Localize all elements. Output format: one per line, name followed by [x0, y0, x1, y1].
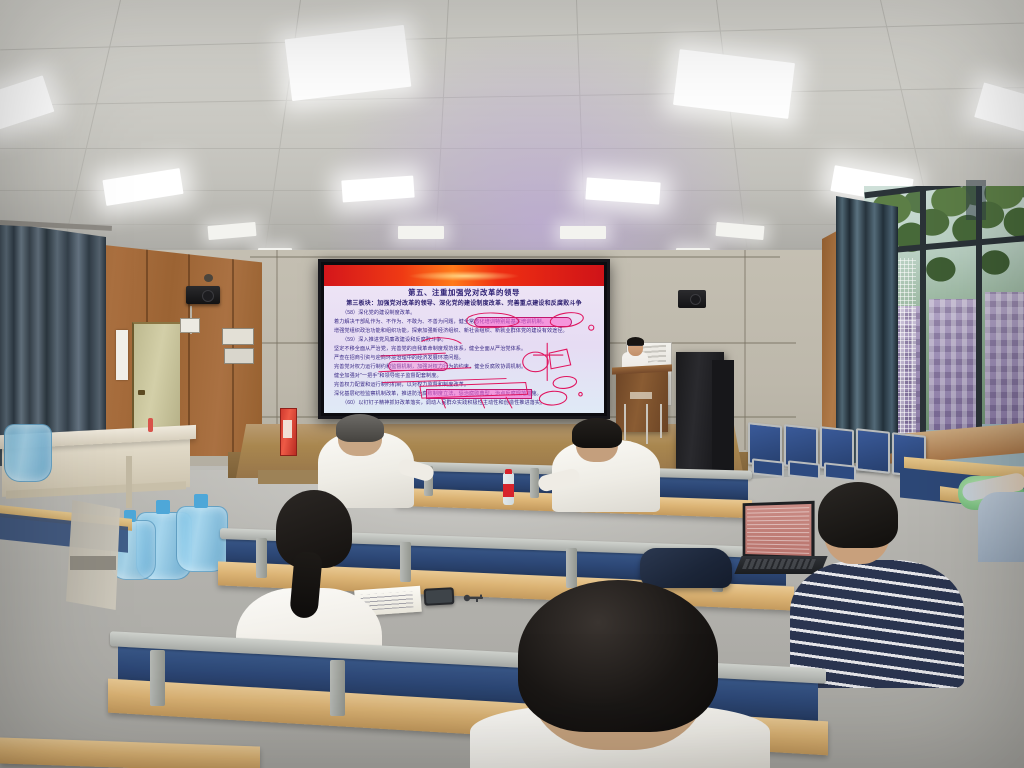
av-equipment-rack-side	[712, 360, 734, 476]
security-camera-icon	[204, 274, 213, 282]
presentation-slide: 第五、注重加强党对改革的领导 第三板块：加强党对改革的领导、深化党的建设制度改革…	[324, 265, 604, 413]
wall-outlet-box	[180, 318, 200, 333]
door-handle[interactable]	[138, 390, 145, 395]
attendee-torso	[978, 492, 1024, 562]
speaker-cone-icon	[690, 294, 701, 305]
water-jug-on-counter[interactable]	[4, 424, 52, 482]
electrical-panel-lower	[224, 348, 254, 364]
podium-nameplate	[630, 392, 652, 399]
projector-screen[interactable]: 第五、注重加强党对改革的领导 第三板块：加强党对改革的领导、深化党的建设制度改革…	[318, 259, 610, 419]
slide-header-banner	[324, 265, 604, 286]
slide-body-line: （58）深化党的建设制度改革。	[342, 309, 596, 316]
laptop-keyboard[interactable]	[742, 559, 816, 569]
ceiling-light-panel	[398, 226, 444, 239]
curtain-right[interactable]	[836, 196, 898, 468]
attendee-hair	[336, 414, 384, 442]
podium-cable	[646, 404, 648, 444]
speaker-cone-icon	[202, 290, 214, 302]
water-jug-cap	[156, 500, 170, 514]
side-counter-leg	[126, 456, 132, 508]
water-bottle-label	[503, 484, 514, 497]
conference-room-photo: 第五、注重加强党对改革的领导 第三板块：加强党对改革的领导、深化党的建设制度改革…	[0, 0, 1024, 768]
door-sign	[116, 330, 128, 380]
slide-body-line: 增强党组织政治功能和组织功能，探索加强新经济组织、新社会组织、新就业群体党的建设…	[334, 327, 596, 334]
keychain-icon[interactable]	[462, 592, 488, 604]
slide-body-line: 完善党对权力运行制约和监督机制，加强对权力行为的约束，健全反腐败协调机制。	[334, 363, 596, 370]
bench-post	[400, 542, 411, 582]
slide-highlight-band	[388, 361, 448, 371]
water-bottle-cap	[505, 469, 512, 474]
slide-highlight-band	[474, 317, 572, 327]
curtain-right-far	[966, 180, 986, 220]
extinguisher-label	[283, 420, 292, 438]
water-jug-cap	[194, 494, 208, 508]
slide-body-line: 严查在招商引资与迎商环境治理中的经济发展环境问题。	[334, 354, 596, 361]
slide-body-line: 完善权力配置和运行制约机制，以对权力监督和制度改革。	[334, 381, 596, 388]
slide-body-line: 健全加强对"一把手"和领导班子监督配套制度。	[334, 372, 596, 379]
attendee-hair	[818, 482, 898, 548]
slide-body-line: 坚定不移全面从严治党，完善党的自我革命制度规范体系，健全全面从严治党体系。	[334, 345, 596, 352]
small-bottle-on-counter[interactable]	[148, 418, 153, 432]
slide-subtitle: 第三板块：加强党对改革的领导、深化党的建设制度改革、完善重点建设和反腐败斗争	[324, 298, 604, 307]
podium-cable	[660, 404, 662, 438]
empty-chair-seat[interactable]	[752, 458, 784, 477]
glasses-icon	[628, 345, 642, 349]
attendee-hair	[572, 418, 622, 448]
electrical-panel-upper	[222, 328, 254, 345]
navy-jacket[interactable]	[640, 548, 732, 588]
bench-post	[150, 650, 165, 706]
attendee-hair	[518, 580, 718, 732]
left-chair-seat[interactable]	[70, 556, 116, 570]
empty-chair-seat[interactable]	[788, 460, 820, 479]
ceiling-light-panel	[560, 226, 606, 239]
laptop-screen[interactable]	[743, 501, 815, 560]
slide-title: 第五、注重加强党对改革的领导	[324, 287, 604, 298]
slide-body-line: （59）深入推进党风廉政建设和反腐败斗争。	[342, 336, 596, 343]
empty-chair-seat[interactable]	[824, 462, 856, 481]
bench-post	[566, 548, 577, 588]
empty-chair[interactable]	[856, 428, 890, 474]
bench-post	[330, 660, 345, 716]
left-chair[interactable]	[66, 500, 120, 610]
slide-highlight-band	[426, 389, 532, 399]
slide-body-line: （60）以钉钉子精神抓好改革落实，调动人民群众实践积极性主动性和创造性推进落实。	[342, 399, 596, 406]
smartphone[interactable]	[424, 587, 455, 606]
bench-post	[256, 538, 267, 578]
podium-cable	[624, 404, 626, 440]
